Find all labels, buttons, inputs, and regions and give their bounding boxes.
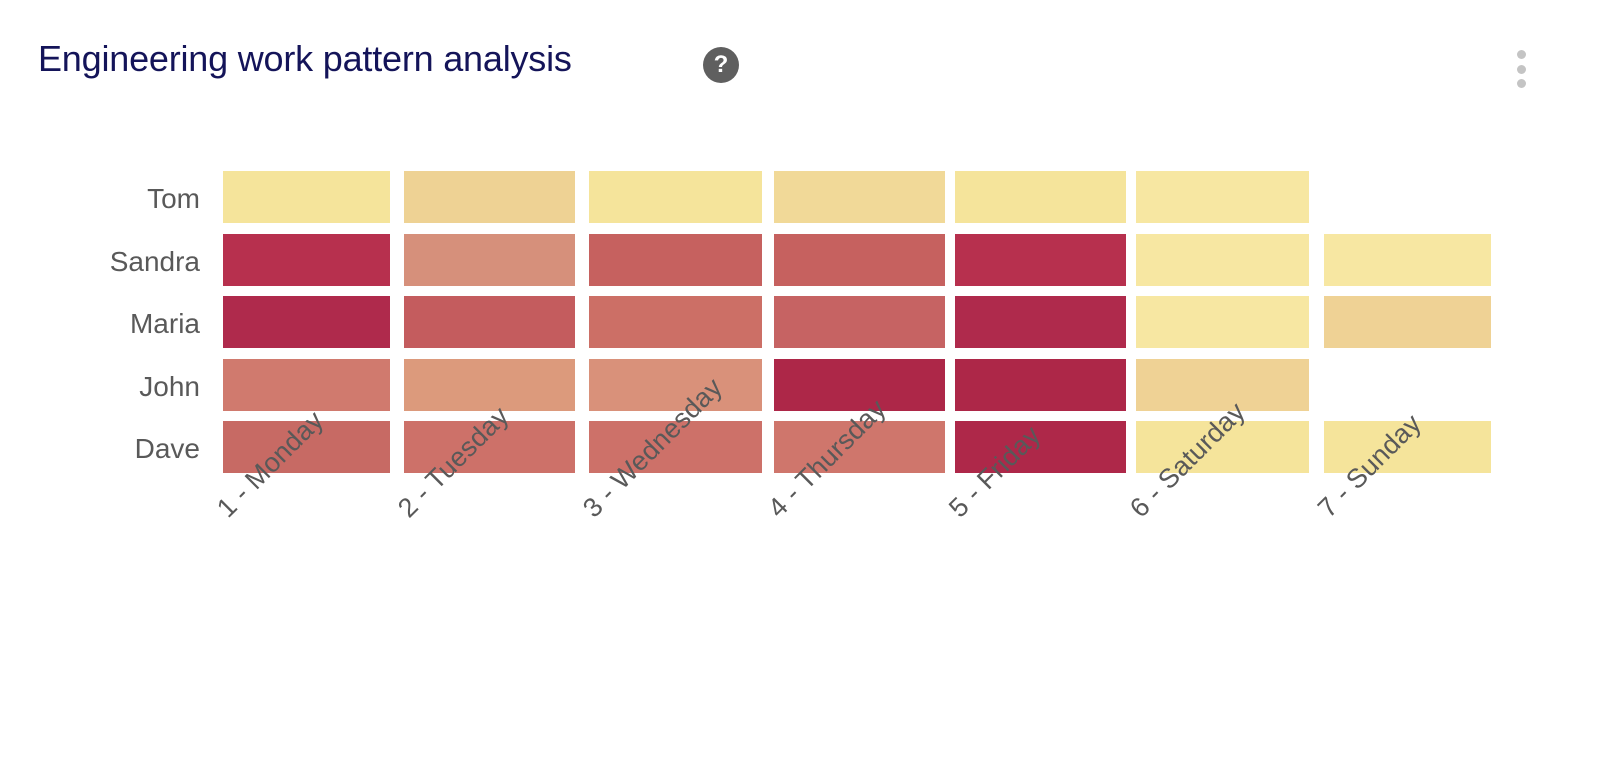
heatmap-cell[interactable] [223,296,390,348]
heatmap-cell [1324,171,1491,223]
heatmap-cell[interactable] [1136,171,1309,223]
heatmap-cell[interactable] [223,171,390,223]
y-axis-label: Tom [40,168,200,231]
heatmap-row [223,231,1513,294]
heatmap-cell[interactable] [1136,234,1309,286]
heatmap-plot: TomSandraMariaJohnDave 1 - Monday2 - Tue… [0,0,1600,784]
heatmap-cell[interactable] [955,359,1126,411]
heatmap-cell[interactable] [1136,296,1309,348]
heatmap-cell[interactable] [223,359,390,411]
heatmap-cell[interactable] [955,296,1126,348]
heatmap-cell[interactable] [223,234,390,286]
heatmap-cell[interactable] [774,234,945,286]
y-axis-label: Sandra [40,231,200,294]
heatmap-cell[interactable] [404,171,575,223]
heatmap-cell[interactable] [589,171,762,223]
heatmap-cell[interactable] [955,171,1126,223]
heatmap-cell[interactable] [589,234,762,286]
heatmap-cell[interactable] [955,234,1126,286]
heatmap-cell[interactable] [404,234,575,286]
heatmap-row [223,168,1513,231]
heatmap-cell[interactable] [1324,234,1491,286]
heatmap-cell [1324,359,1491,411]
heatmap-cell[interactable] [1324,296,1491,348]
heatmap-row [223,293,1513,356]
y-axis-label: Dave [40,418,200,481]
y-axis-label: Maria [40,293,200,356]
x-axis-labels: 1 - Monday2 - Tuesday3 - Wednesday4 - Th… [223,478,1600,698]
heatmap-cell[interactable] [589,296,762,348]
heatmap-cell[interactable] [404,296,575,348]
y-axis-label: John [40,356,200,419]
heatmap-cell[interactable] [774,171,945,223]
heatmap-cell[interactable] [774,296,945,348]
y-axis-labels: TomSandraMariaJohnDave [40,168,200,481]
